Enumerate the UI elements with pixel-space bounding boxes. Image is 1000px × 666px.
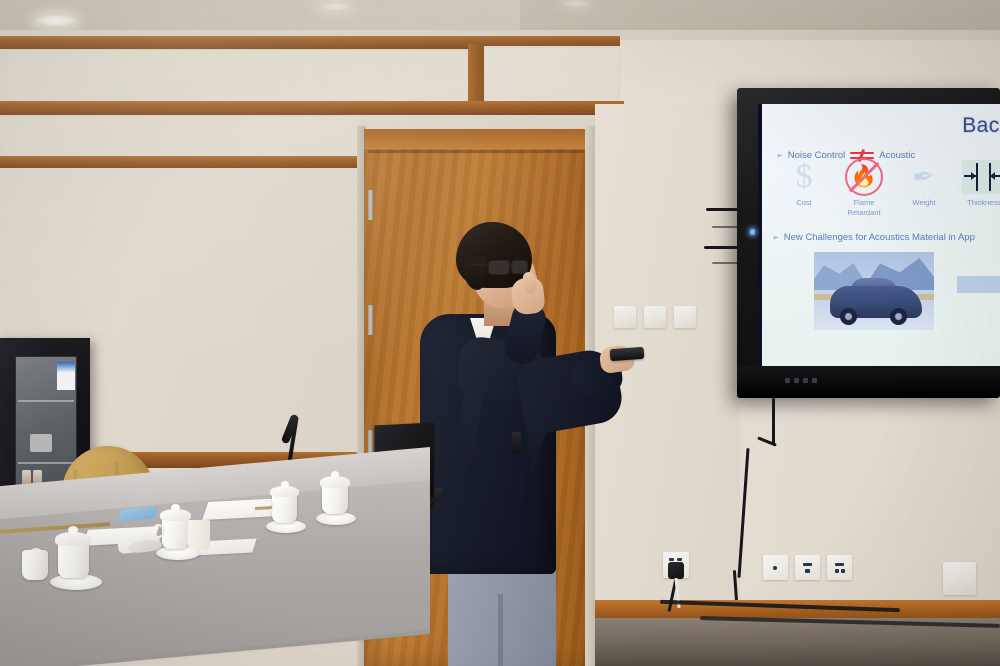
trouser-seam: [498, 594, 503, 666]
door-header-rail: [364, 129, 588, 149]
data-port-2[interactable]: [795, 555, 820, 580]
door-top-reveal: [368, 150, 584, 153]
wall-trim-lower: [0, 156, 360, 168]
door-hinge-icon: [368, 305, 373, 335]
property-icon-row: $ Cost 🔥 Flame Retardant ✒: [778, 156, 1000, 217]
icon-caption-flame-line1: Flame: [838, 199, 890, 208]
port-jack-icon: [803, 563, 812, 566]
teacup-lid: [55, 532, 91, 546]
icon-caption-cost: Cost: [778, 199, 830, 208]
presentation-slide: Backgr ➢ Noise Control Acoustic $ Cost 🔥: [762, 104, 1000, 366]
presenter: [412, 222, 602, 666]
door-hinge-icon: [368, 190, 373, 220]
thickness-icon: [958, 156, 1000, 198]
port-jack-icon: [835, 563, 844, 566]
data-port-3[interactable]: [827, 555, 852, 580]
display-power-led-icon: [750, 229, 755, 235]
port-jack-icon: [835, 569, 839, 573]
vehicle-wheel: [840, 308, 857, 325]
light-switch-3[interactable]: [674, 306, 696, 328]
cup-handle: [152, 524, 165, 538]
display-button-icon[interactable]: [785, 378, 790, 383]
vehicle-wheel: [890, 308, 907, 325]
display-screen[interactable]: Backgr ➢ Noise Control Acoustic $ Cost 🔥: [758, 104, 1000, 369]
coffee-mug: [22, 550, 48, 580]
presentation-clicker[interactable]: [610, 347, 645, 361]
wall-trim-vertical: [468, 44, 484, 108]
downlight-icon: [562, 0, 590, 7]
slide-blue-callout-box: [957, 276, 1000, 293]
presenter-sideburn: [464, 256, 486, 290]
light-switch-1[interactable]: [614, 306, 636, 328]
wall-panel: [484, 46, 620, 104]
vehicle-photo: [814, 252, 934, 330]
refrigerator-energy-label: [57, 362, 75, 390]
stacked-cups: [30, 434, 52, 452]
paper-cup: [188, 520, 210, 550]
icon-cell-thickness: Thickness: [958, 156, 1000, 217]
port-jack-icon: [773, 566, 777, 570]
outlet-slot-icon: [669, 558, 674, 561]
display-cable: [704, 246, 738, 249]
display-power-cable: [772, 398, 775, 444]
port-jack-icon: [841, 569, 845, 573]
display-button-icon[interactable]: [803, 378, 808, 383]
data-port-1[interactable]: [763, 555, 788, 580]
plug-icon: [668, 562, 684, 579]
cup-handle: [262, 500, 274, 513]
display-cable: [706, 208, 738, 211]
display-cable: [712, 262, 738, 264]
icon-caption-weight: Weight: [898, 199, 950, 208]
port-jack-icon: [805, 569, 810, 573]
refrigerator-shelf: [18, 400, 74, 402]
refrigerator-shelf: [18, 462, 74, 464]
display-button-icon[interactable]: [812, 378, 817, 383]
light-switch-2[interactable]: [644, 306, 666, 328]
outlet-slot-icon: [677, 558, 682, 561]
wall-panel: [6, 49, 468, 104]
downlight-icon: [34, 14, 78, 27]
icon-caption-flame-line2: Retardant: [838, 209, 890, 218]
wall-trim-mid: [0, 101, 624, 115]
teacup-lid-knob: [171, 504, 180, 511]
display-cable: [712, 226, 738, 228]
icon-cell-weight: ✒ Weight: [898, 156, 950, 217]
cost-icon: $: [778, 156, 830, 198]
flame-retardant-icon: 🔥: [838, 156, 890, 198]
slide-bullet-2: ➢ New Challenges for Acoustics Material …: [772, 232, 975, 243]
conference-room-photo: Backgr ➢ Noise Control Acoustic $ Cost 🔥: [0, 0, 1000, 666]
display-button-group[interactable]: [785, 378, 817, 383]
bullet-2-text: New Challenges for Acoustics Material in…: [784, 232, 975, 243]
glasses-lens-left: [488, 260, 510, 275]
icon-cell-flame-retardant: 🔥 Flame Retardant: [838, 156, 890, 217]
feather-icon: ✒: [898, 156, 950, 198]
bullet-marker-icon: ➢: [772, 233, 779, 242]
light-switch-right[interactable]: [943, 562, 976, 595]
lapel-microphone-icon: [512, 432, 521, 454]
glasses-bridge: [509, 265, 513, 267]
slide-title: Backgr: [962, 114, 1000, 138]
teacup-lid-knob: [281, 481, 289, 488]
display-button-icon[interactable]: [794, 378, 799, 383]
teacup-lid-knob: [331, 471, 339, 478]
teacup-lid-knob: [68, 526, 78, 534]
icon-caption-thickness: Thickness: [958, 199, 1000, 208]
downlight-icon: [318, 2, 352, 11]
icon-cell-cost: $ Cost: [778, 156, 830, 217]
display-bottom-bezel: [737, 366, 1000, 398]
